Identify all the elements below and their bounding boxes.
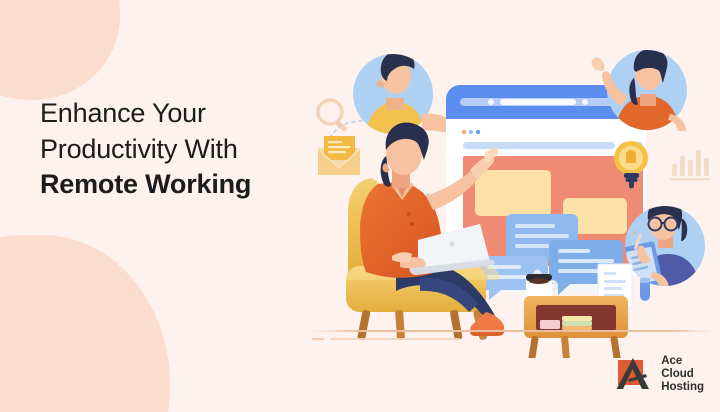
logo-line-2: Cloud xyxy=(661,368,694,380)
envelope-icon xyxy=(318,136,360,175)
headline-line-1: Enhance Your xyxy=(40,96,340,132)
headline-line-3: Remote Working xyxy=(40,167,340,203)
logo-line-1: Ace xyxy=(661,355,682,367)
headline: Enhance Your Productivity With Remote Wo… xyxy=(40,96,340,203)
bar-chart-icon xyxy=(670,150,711,180)
brand-logo[interactable]: Ace Cloud Hosting xyxy=(616,355,704,394)
background-blob-top-left xyxy=(0,0,120,100)
background-blob-bottom-left xyxy=(0,235,170,412)
ground-line xyxy=(312,330,712,332)
remote-working-illustration xyxy=(300,28,720,358)
side-table xyxy=(524,296,628,358)
headline-line-2: Productivity With xyxy=(40,132,340,168)
promo-banner: Enhance Your Productivity With Remote Wo… xyxy=(0,0,720,412)
logo-line-3: Hosting xyxy=(661,381,704,393)
ground-line-secondary xyxy=(330,338,460,340)
magnifier-icon xyxy=(318,100,348,132)
logo-wordmark: Ace Cloud Hosting xyxy=(661,355,704,394)
ground-line-dash xyxy=(312,338,324,340)
ace-cloud-hosting-logo-mark xyxy=(616,357,654,393)
